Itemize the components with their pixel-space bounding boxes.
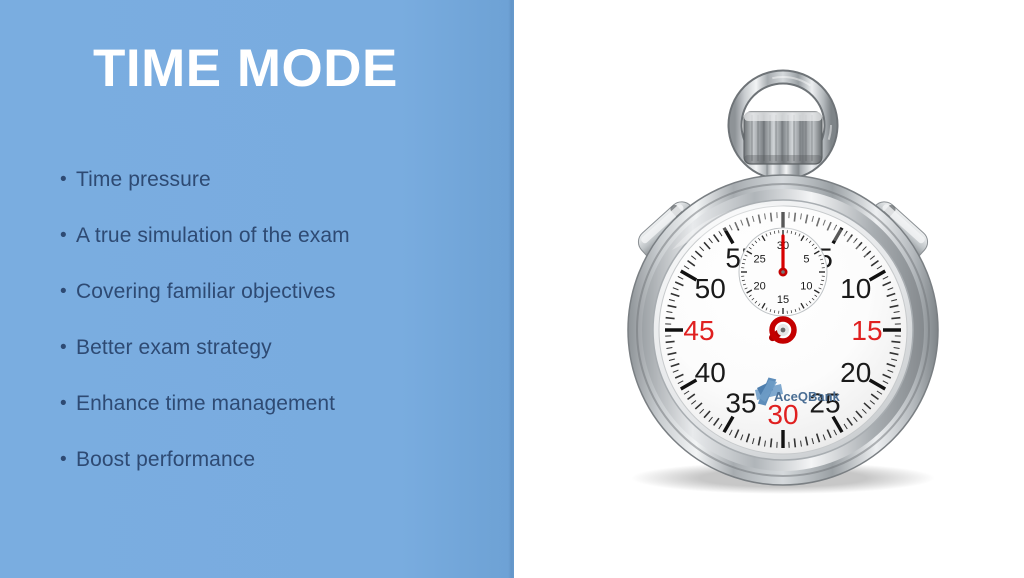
hand-hub-pin <box>781 328 786 333</box>
bullet-marker-icon: • <box>56 167 76 193</box>
bullet-marker-icon: • <box>56 391 76 417</box>
dial-number: 40 <box>695 357 726 388</box>
list-item-label: Boost performance <box>76 447 255 473</box>
page-title: TIME MODE <box>93 40 493 97</box>
list-item: • Covering familiar objectives <box>56 279 496 335</box>
list-item: • Time pressure <box>56 167 496 223</box>
brand-label: AceQBank <box>774 389 841 404</box>
stopwatch-subdial: 30510152025 <box>739 228 827 316</box>
subdial-number: 10 <box>800 281 812 293</box>
slide-root: TIME MODE • Time pressure • A true simul… <box>0 0 1024 578</box>
list-item-label: Better exam strategy <box>76 335 272 361</box>
subdial-number: 15 <box>777 294 789 306</box>
list-item-label: Enhance time management <box>76 391 335 417</box>
dial-number: 15 <box>851 315 882 346</box>
bullet-marker-icon: • <box>56 223 76 249</box>
stopwatch-area: 60510152025303540455055 30510152025 AceQ <box>514 0 1024 578</box>
dial-number: 35 <box>725 388 756 419</box>
dial-number: 50 <box>695 273 726 304</box>
stopwatch-icon: 60510152025303540455055 30510152025 AceQ <box>512 0 1024 578</box>
bullet-marker-icon: • <box>56 447 76 473</box>
watch-crown[interactable] <box>744 112 822 164</box>
list-item: • Boost performance <box>56 447 496 503</box>
subdial-hub-center <box>781 270 785 274</box>
list-item-label: Covering familiar objectives <box>76 279 336 305</box>
subdial-number: 25 <box>753 254 765 266</box>
dial-number: 20 <box>840 357 871 388</box>
list-item: • Enhance time management <box>56 391 496 447</box>
dial-number: 45 <box>683 315 714 346</box>
subdial-number: 5 <box>803 254 809 266</box>
list-item-label: A true simulation of the exam <box>76 223 350 249</box>
bullet-marker-icon: • <box>56 335 76 361</box>
bullet-marker-icon: • <box>56 279 76 305</box>
list-item: • Better exam strategy <box>56 335 496 391</box>
subdial-number: 20 <box>753 281 765 293</box>
list-item-label: Time pressure <box>76 167 211 193</box>
bullet-list: • Time pressure • A true simulation of t… <box>56 167 496 503</box>
list-item: • A true simulation of the exam <box>56 223 496 279</box>
